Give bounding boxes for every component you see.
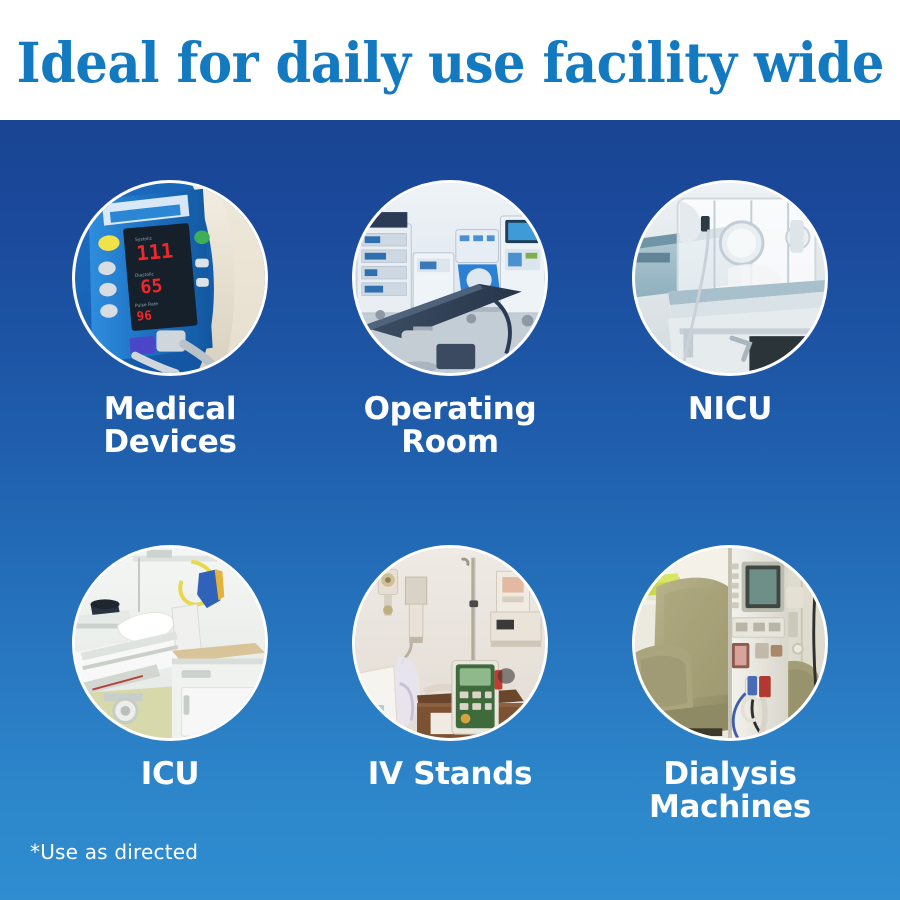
card-caption: IV Stands [300,758,600,791]
page-title: Ideal for daily use facility wide [16,35,883,90]
card-iv-stands[interactable]: IV Stands [300,545,600,791]
caption-line: Dialysis [580,758,880,791]
photo-ring [352,180,548,376]
card-caption: ICU [20,758,320,791]
card-medical-devices[interactable]: 111 65 96 Systolic Diastolic Pulse Rate [20,180,320,460]
caption-line: Room [300,426,600,459]
card-caption: Dialysis Machines [580,758,880,825]
card-caption: NICU [580,393,880,426]
dialysis-machine-photo [635,548,825,738]
photo-ring [632,180,828,376]
footnote-disclaimer: *Use as directed [30,840,198,864]
header-band: Ideal for daily use facility wide [0,0,900,120]
svg-text:96: 96 [136,307,152,323]
caption-line: Medical [20,393,320,426]
photo-ring [352,545,548,741]
photo-ring [632,545,828,741]
caption-line: IV Stands [300,758,600,791]
icu-hospital-bed-photo [75,548,265,738]
operating-room-photo [355,183,545,373]
caption-line: Devices [20,426,320,459]
caption-line: ICU [20,758,320,791]
photo-ring: 111 65 96 Systolic Diastolic Pulse Rate [72,180,268,376]
photo-ring [72,545,268,741]
card-icu[interactable]: ICU [20,545,320,791]
svg-text:65: 65 [140,276,164,299]
card-grid: 111 65 96 Systolic Diastolic Pulse Rate [0,120,900,900]
card-caption: Medical Devices [20,393,320,460]
nicu-incubator-photo [635,183,825,373]
caption-line: NICU [580,393,880,426]
card-dialysis-machines[interactable]: Dialysis Machines [580,545,880,825]
caption-line: Operating [300,393,600,426]
content-panel: 111 65 96 Systolic Diastolic Pulse Rate [0,120,900,900]
card-operating-room[interactable]: Operating Room [300,180,600,460]
vital-signs-monitor-photo: 111 65 96 Systolic Diastolic Pulse Rate [75,183,265,373]
card-nicu[interactable]: NICU [580,180,880,426]
poster: Ideal for daily use facility wide [0,0,900,900]
caption-line: Machines [580,791,880,824]
card-caption: Operating Room [300,393,600,460]
iv-stand-photo [355,548,545,738]
